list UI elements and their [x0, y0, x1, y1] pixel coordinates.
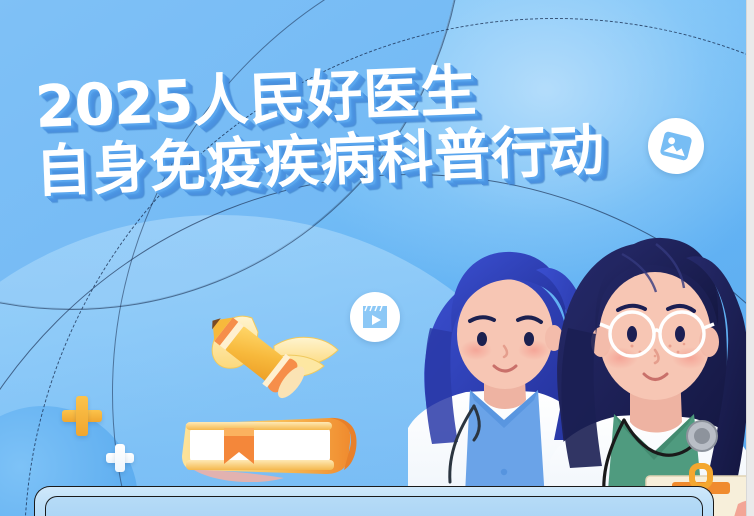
video-icon[interactable]: [350, 292, 400, 342]
content-panel-inner: [45, 496, 703, 516]
cross-bar-v: [76, 396, 88, 436]
poster-canvas: 2025人民好医生 自身免疫疾病科普行动: [0, 0, 754, 516]
white-cross-icon: [106, 444, 134, 472]
content-panel[interactable]: [34, 486, 714, 516]
doctor-right-figure: [548, 238, 746, 516]
cross-bar-v: [115, 444, 125, 472]
poster-background: 2025人民好医生 自身免疫疾病科普行动: [0, 0, 746, 516]
doctors-illustration: [408, 214, 746, 516]
right-gutter: [746, 0, 754, 516]
orange-cross-icon: [62, 396, 102, 436]
